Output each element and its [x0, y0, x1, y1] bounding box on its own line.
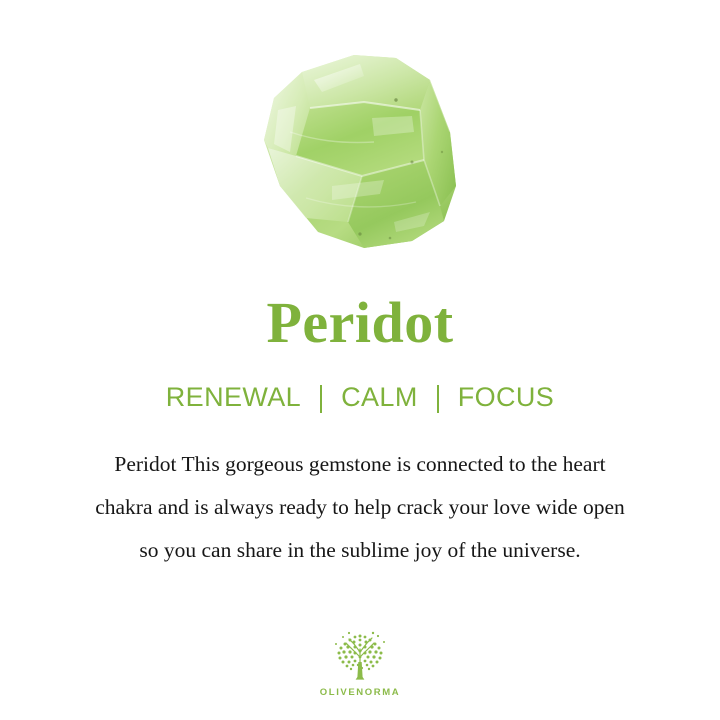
keyword-focus: FOCUS [456, 382, 557, 413]
keyword-separator [320, 385, 322, 413]
keyword-list: RENEWAL CALM FOCUS [164, 382, 556, 413]
peridot-raw-crystal-icon [244, 36, 484, 261]
brand-footer: OLIVENORMA [0, 627, 720, 698]
description-line: so you can share in the sublime joy of t… [30, 529, 690, 572]
crystal-inclusion-5 [441, 150, 443, 152]
crystal-inclusion-2 [411, 160, 414, 163]
description-line: Peridot This gorgeous gemstone is connec… [30, 443, 690, 486]
description-text: Peridot This gorgeous gemstone is connec… [30, 443, 690, 572]
description-line: chakra and is always ready to help crack… [30, 486, 690, 529]
keyword-separator [437, 385, 439, 413]
keyword-calm: CALM [339, 382, 420, 413]
peridot-product-card: Peridot RENEWAL CALM FOCUS Peridot This … [0, 0, 720, 720]
crystal-inclusion-3 [358, 232, 361, 235]
brand-name: OLIVENORMA [320, 687, 400, 698]
gemstone-image-container [0, 0, 720, 290]
olive-tree-logo-icon [329, 627, 391, 685]
keyword-renewal: RENEWAL [164, 382, 303, 413]
crystal-inclusion-4 [389, 236, 392, 239]
page-title: Peridot [266, 294, 453, 352]
crystal-inclusion-1 [394, 98, 397, 101]
